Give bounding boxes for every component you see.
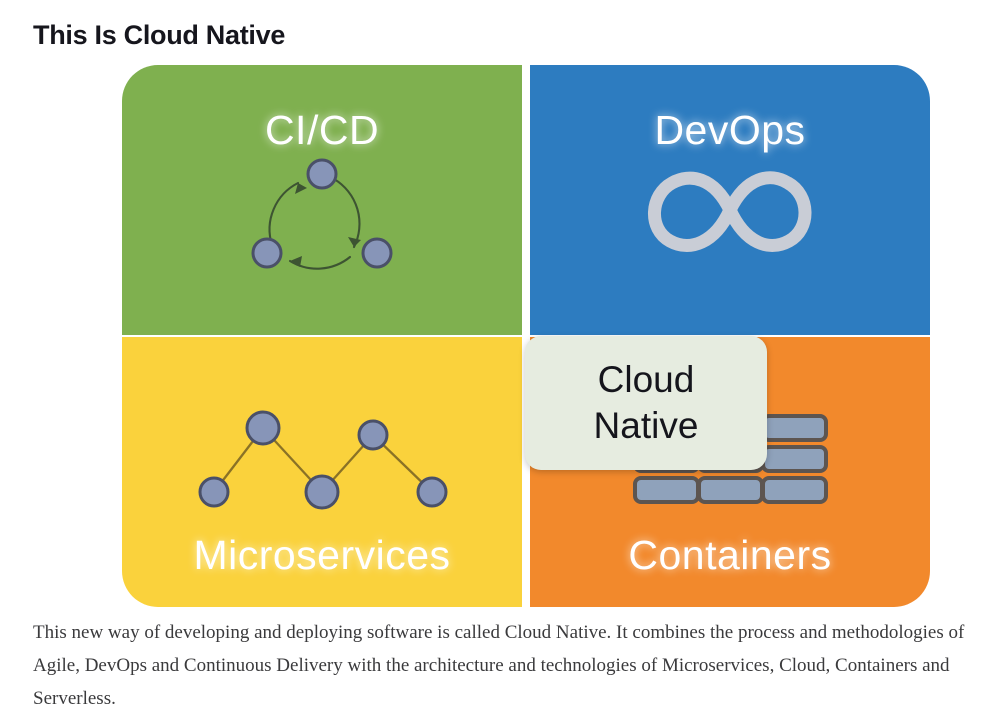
infinity-icon: [530, 65, 930, 335]
quadrant-microservices[interactable]: Microservices: [122, 337, 522, 607]
quadrant-label-microservices: Microservices: [122, 532, 522, 579]
quadrant-cicd[interactable]: CI/CD: [122, 65, 522, 335]
caption-text: This new way of developing and deploying…: [33, 616, 973, 715]
center-badge-line-1: Cloud: [598, 357, 695, 403]
center-badge-cloud-native[interactable]: Cloud Native: [525, 336, 767, 470]
page-title: This Is Cloud Native: [33, 20, 285, 51]
quadrant-label-devops: DevOps: [530, 107, 930, 154]
quadrant-label-cicd: CI/CD: [122, 107, 522, 154]
cycle-arrows-icon: [122, 65, 522, 335]
quadrant-devops[interactable]: DevOps: [530, 65, 930, 335]
cloud-native-quadrant-diagram: CI/CD DevOps Microserv: [122, 65, 930, 607]
center-badge-line-2: Native: [594, 403, 699, 449]
quadrant-label-containers: Containers: [530, 532, 930, 579]
